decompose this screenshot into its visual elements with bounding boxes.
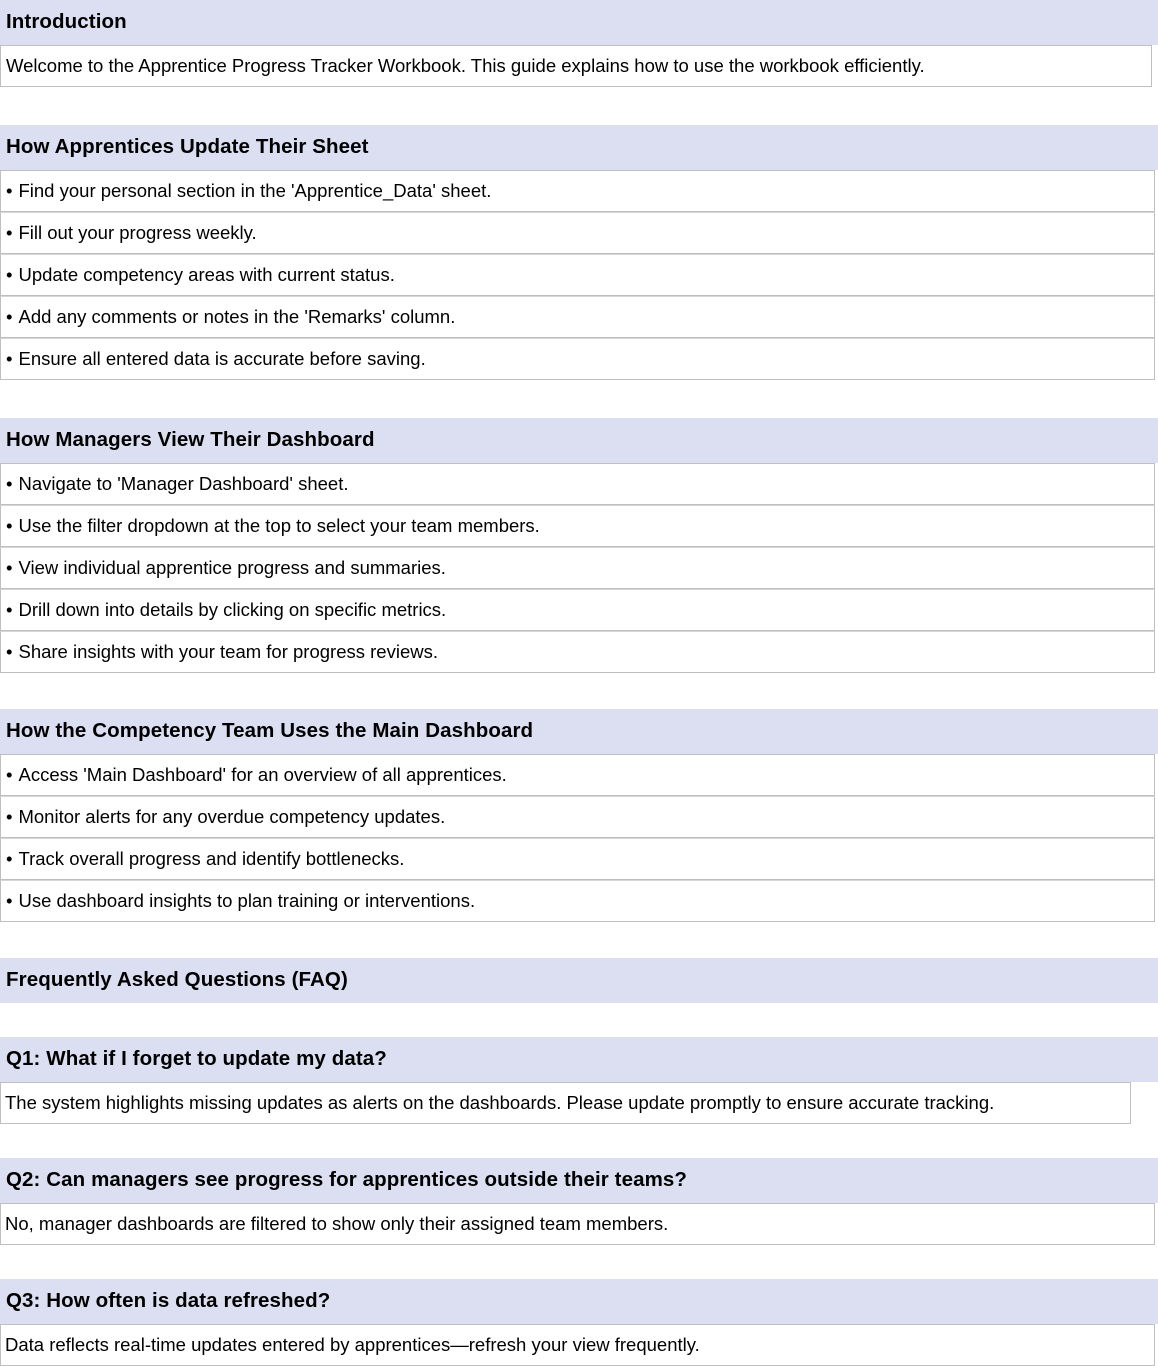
section-header-faq: Frequently Asked Questions (FAQ) [0,958,1158,1003]
faq-answer-text: No, manager dashboards are filtered to s… [5,1213,668,1235]
list-item: • Drill down into details by clicking on… [0,589,1155,631]
faq-title: Frequently Asked Questions (FAQ) [6,970,348,991]
bullet-icon: • [6,224,12,243]
list-item: • Use the filter dropdown at the top to … [0,505,1155,547]
bullet-icon: • [6,475,12,494]
list-item-label: Monitor alerts for any overdue competenc… [18,806,445,828]
list-item-label: Access 'Main Dashboard' for an overview … [18,764,506,786]
faq-question-header-3: Q3: How often is data refreshed? [0,1279,1158,1324]
faq-answer-text: Data reflects real-time updates entered … [5,1334,700,1356]
list-item: • View individual apprentice progress an… [0,547,1155,589]
section-header-managers-dashboard: How Managers View Their Dashboard [0,418,1158,463]
faq-question-label: Q1: What if I forget to update my data? [6,1049,387,1070]
faq-question-header-2: Q2: Can managers see progress for appren… [0,1158,1158,1203]
list-item: • Monitor alerts for any overdue compete… [0,796,1155,838]
bullet-icon: • [6,517,12,536]
list-item-label: Navigate to 'Manager Dashboard' sheet. [18,473,348,495]
list-item-label: Use the filter dropdown at the top to se… [18,515,539,537]
bullet-icon: • [6,601,12,620]
introduction-body-text: Welcome to the Apprentice Progress Track… [6,55,925,77]
list-item: • Fill out your progress weekly. [0,212,1155,254]
section-spacer [0,1003,1158,1037]
section-header-introduction: Introduction [0,0,1158,45]
faq-question-label: Q2: Can managers see progress for appren… [6,1170,687,1191]
list-item-label: Track overall progress and identify bott… [18,848,404,870]
faq-question-header-1: Q1: What if I forget to update my data? [0,1037,1158,1082]
bullet-list-competency-team-dashboard: • Access 'Main Dashboard' for an overvie… [0,754,1158,922]
list-item: • Update competency areas with current s… [0,254,1155,296]
instructions-sheet: Introduction Welcome to the Apprentice P… [0,0,1158,1366]
list-item: • Track overall progress and identify bo… [0,838,1155,880]
bullet-icon: • [6,182,12,201]
list-item: • Navigate to 'Manager Dashboard' sheet. [0,463,1155,505]
faq-answer-2: No, manager dashboards are filtered to s… [0,1203,1155,1245]
section-spacer [0,922,1158,958]
bullet-list-managers-dashboard: • Navigate to 'Manager Dashboard' sheet.… [0,463,1158,673]
bullet-icon: • [6,808,12,827]
list-item: • Access 'Main Dashboard' for an overvie… [0,754,1155,796]
list-item-label: Update competency areas with current sta… [18,264,394,286]
bullet-icon: • [6,308,12,327]
bullet-icon: • [6,559,12,578]
list-item: • Find your personal section in the 'App… [0,170,1155,212]
list-item-label: Fill out your progress weekly. [18,222,256,244]
faq-answer-3: Data reflects real-time updates entered … [0,1324,1155,1366]
section-title: How the Competency Team Uses the Main Da… [6,721,533,742]
bullet-list-apprentices-update: • Find your personal section in the 'App… [0,170,1158,380]
section-title: How Apprentices Update Their Sheet [6,137,369,158]
section-title: Introduction [6,12,127,33]
section-title: How Managers View Their Dashboard [6,430,375,451]
bullet-icon: • [6,266,12,285]
list-item: • Ensure all entered data is accurate be… [0,338,1155,380]
faq-question-label: Q3: How often is data refreshed? [6,1291,330,1312]
section-spacer [0,87,1158,125]
bullet-icon: • [6,892,12,911]
section-header-competency-team-dashboard: How the Competency Team Uses the Main Da… [0,709,1158,754]
list-item-label: Drill down into details by clicking on s… [18,599,446,621]
section-header-apprentices-update: How Apprentices Update Their Sheet [0,125,1158,170]
bullet-icon: • [6,850,12,869]
list-item-label: Use dashboard insights to plan training … [18,890,475,912]
faq-answer-1: The system highlights missing updates as… [0,1082,1131,1124]
section-spacer [0,1124,1158,1158]
section-spacer [0,380,1158,418]
list-item-label: Find your personal section in the 'Appre… [18,180,491,202]
faq-answer-text: The system highlights missing updates as… [5,1092,994,1114]
section-spacer [0,673,1158,709]
list-item-label: Share insights with your team for progre… [18,641,438,663]
section-spacer [0,1245,1158,1279]
list-item: • Use dashboard insights to plan trainin… [0,880,1155,922]
list-item-label: Add any comments or notes in the 'Remark… [18,306,455,328]
list-item: • Share insights with your team for prog… [0,631,1155,673]
bullet-icon: • [6,350,12,369]
introduction-body-cell: Welcome to the Apprentice Progress Track… [0,45,1152,87]
bullet-icon: • [6,766,12,785]
bullet-icon: • [6,643,12,662]
list-item-label: Ensure all entered data is accurate befo… [18,348,425,370]
list-item-label: View individual apprentice progress and … [18,557,445,579]
list-item: • Add any comments or notes in the 'Rema… [0,296,1155,338]
